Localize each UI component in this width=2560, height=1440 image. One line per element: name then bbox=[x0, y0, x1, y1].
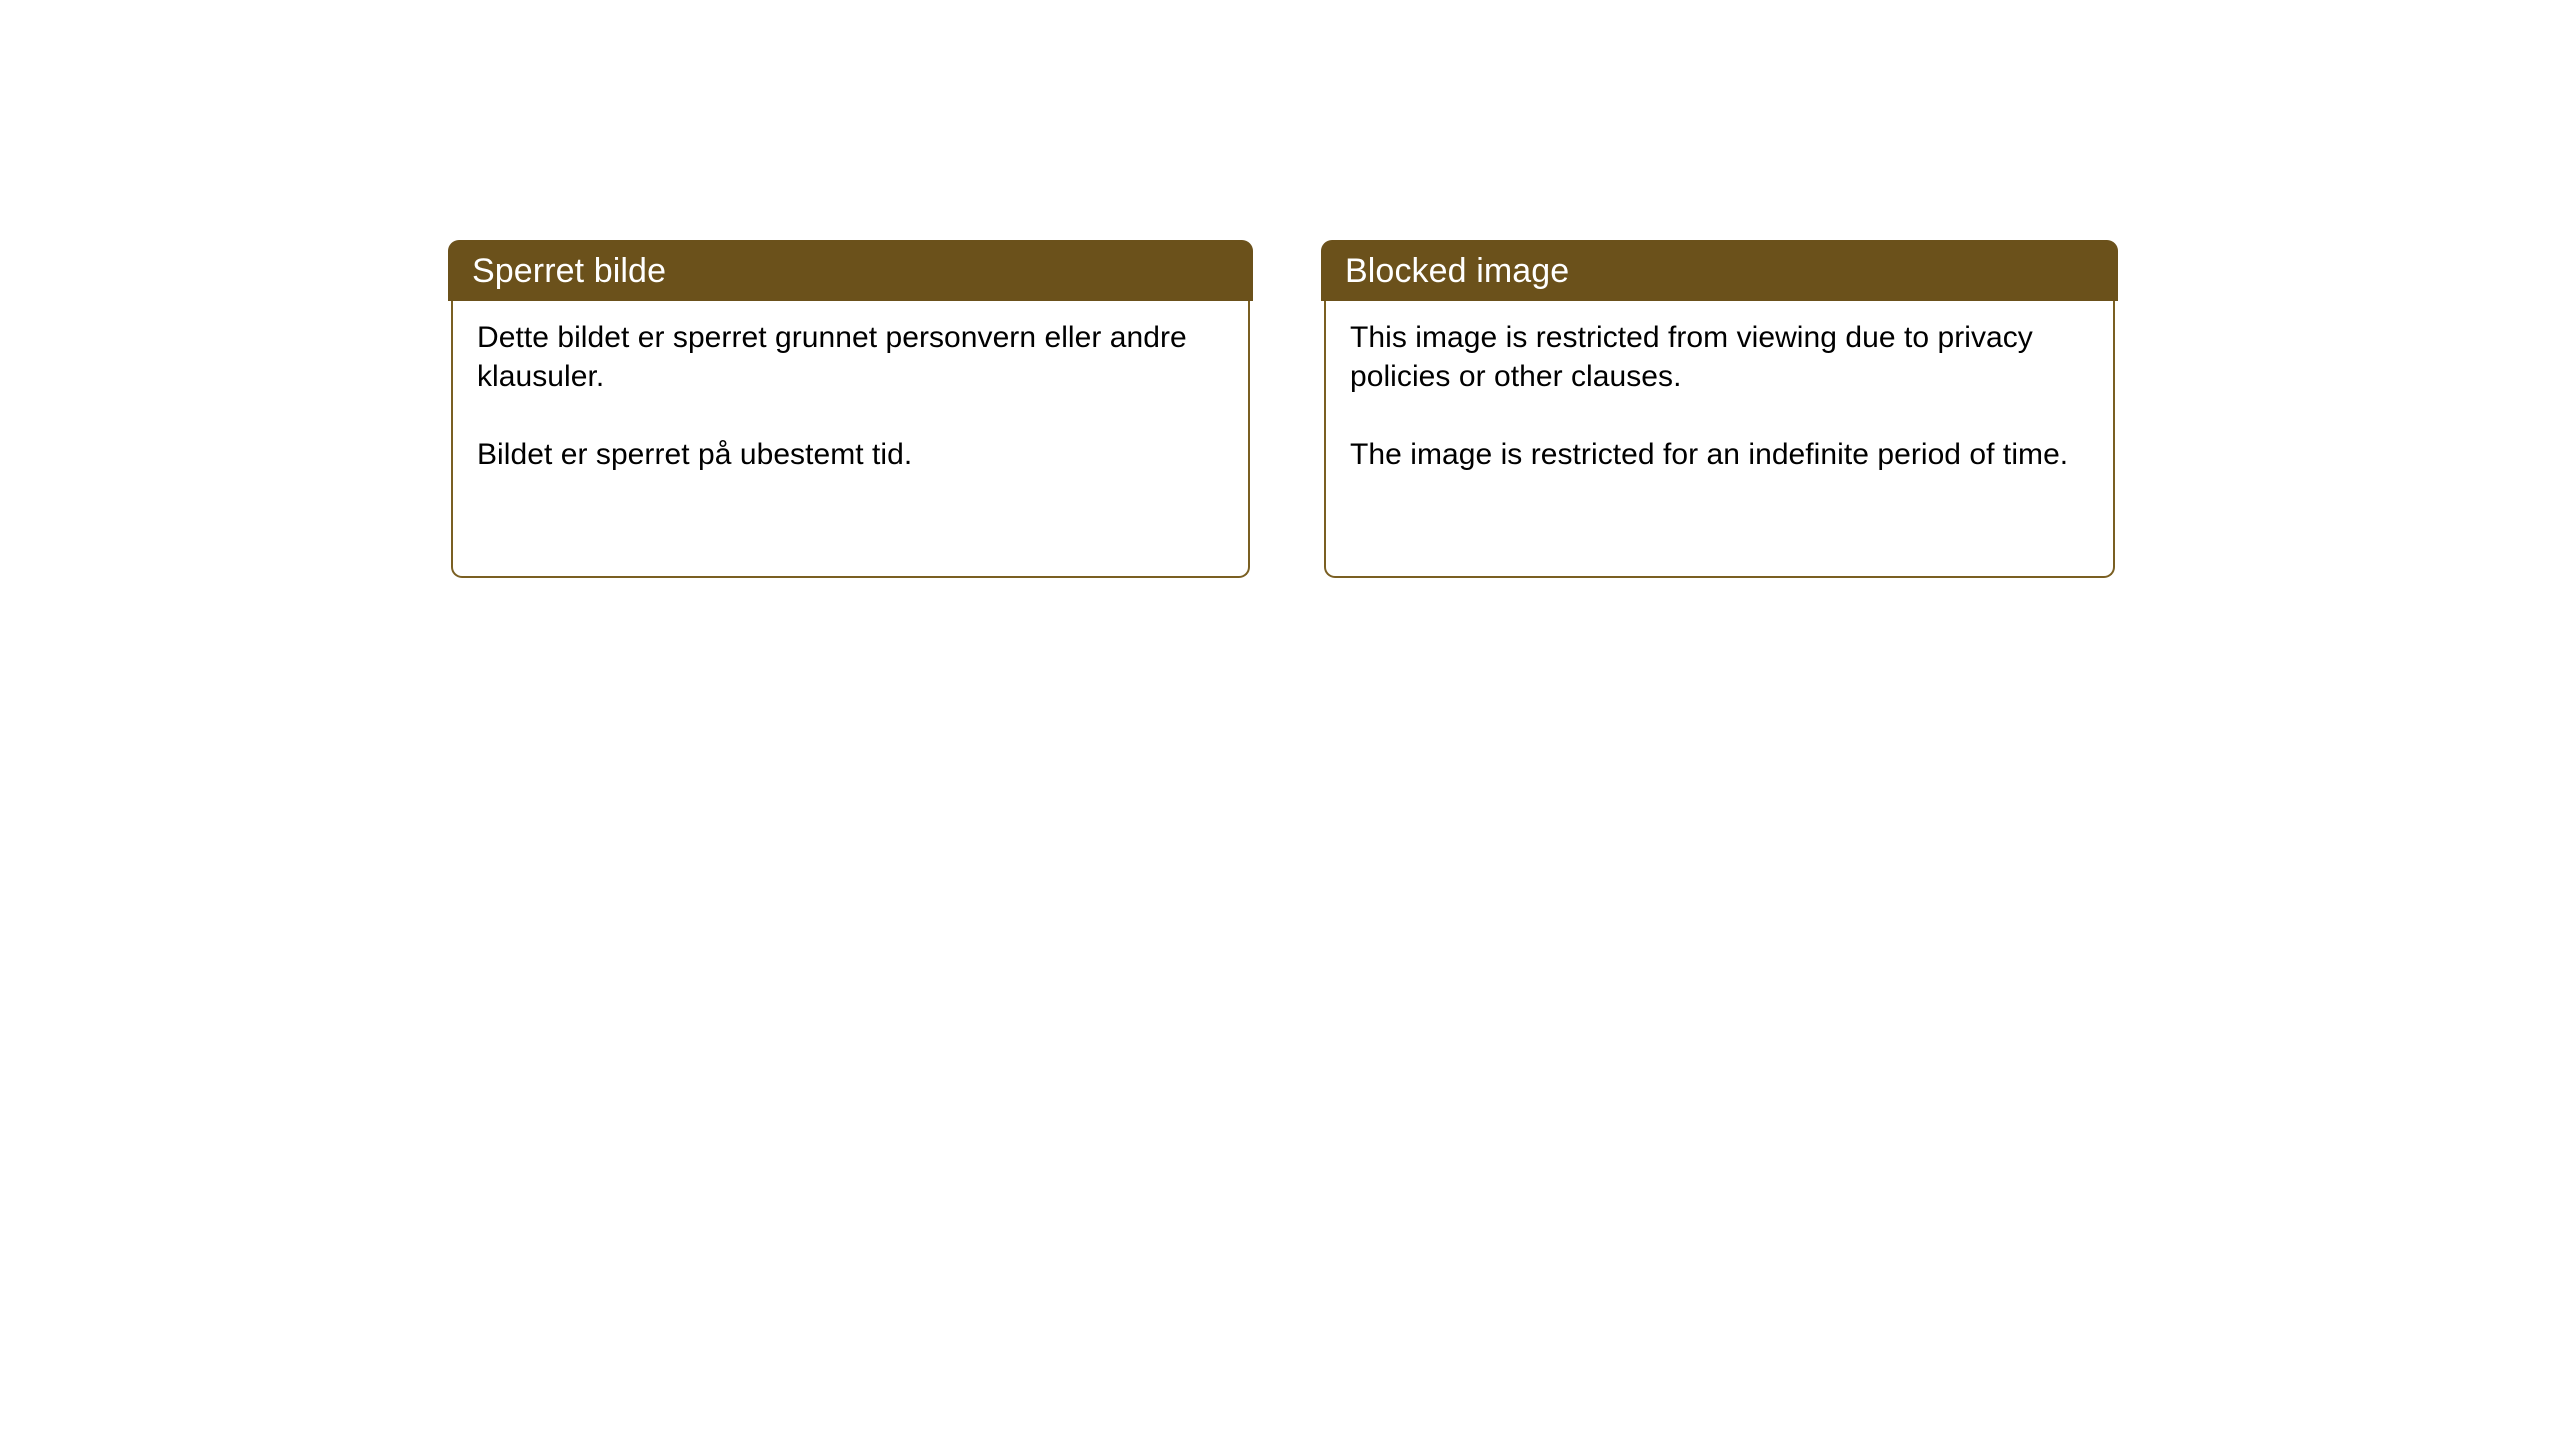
paragraph-spacer bbox=[1350, 396, 2089, 435]
blocked-image-notice-group: Sperret bilde Dette bildet er sperret gr… bbox=[448, 240, 2118, 578]
panel-paragraph-secondary-norwegian: Bildet er sperret på ubestemt tid. bbox=[477, 435, 1224, 474]
panel-paragraph-secondary-english: The image is restricted for an indefinit… bbox=[1350, 435, 2089, 474]
panel-paragraph-primary-english: This image is restricted from viewing du… bbox=[1350, 318, 2089, 396]
panel-title-english: Blocked image bbox=[1345, 254, 1569, 288]
panel-header-english: Blocked image bbox=[1321, 240, 2118, 301]
panel-header-norwegian: Sperret bilde bbox=[448, 240, 1253, 301]
blocked-image-panel-norwegian: Sperret bilde Dette bildet er sperret gr… bbox=[448, 240, 1253, 578]
panel-body-english: This image is restricted from viewing du… bbox=[1324, 301, 2115, 578]
panel-paragraph-primary-norwegian: Dette bildet er sperret grunnet personve… bbox=[477, 318, 1224, 396]
blocked-image-panel-english: Blocked image This image is restricted f… bbox=[1321, 240, 2118, 578]
panel-title-norwegian: Sperret bilde bbox=[472, 254, 666, 288]
panel-body-norwegian: Dette bildet er sperret grunnet personve… bbox=[451, 301, 1250, 578]
paragraph-spacer bbox=[477, 396, 1224, 435]
